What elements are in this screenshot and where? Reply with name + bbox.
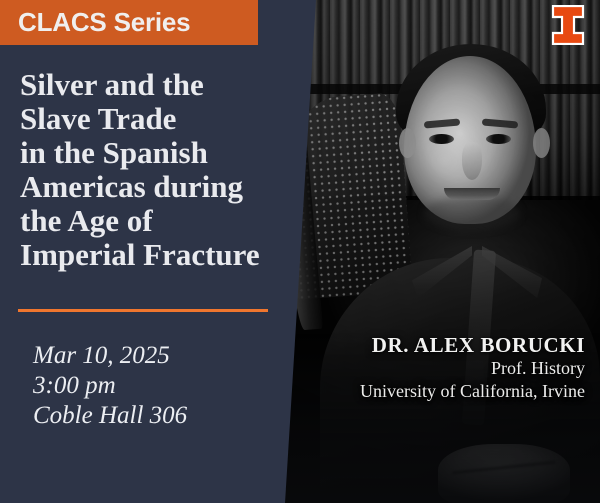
speaker-affiliation: University of California, Irvine	[360, 380, 585, 403]
event-details: Mar 10, 2025 3:00 pm Coble Hall 306	[33, 341, 187, 431]
event-time: 3:00 pm	[33, 371, 187, 401]
title-line: in the Spanish	[20, 136, 295, 170]
university-of-illinois-block-i-icon	[548, 5, 588, 45]
speaker-role: Prof. History	[360, 357, 585, 380]
subject-eye-left	[429, 134, 454, 144]
event-poster: CLACS Series Silver and the Slave Trade …	[0, 0, 600, 503]
info-panel: CLACS Series Silver and the Slave Trade …	[0, 0, 320, 503]
speaker-name: DR. ALEX BORUCKI	[360, 333, 585, 357]
title-line: Silver and the	[20, 68, 295, 102]
event-date: Mar 10, 2025	[33, 341, 187, 371]
event-location: Coble Hall 306	[33, 401, 187, 431]
series-banner-label: CLACS Series	[0, 7, 190, 38]
page-title: Silver and the Slave Trade in the Spanis…	[20, 68, 295, 272]
subject-eye-right	[486, 134, 511, 144]
series-banner: CLACS Series	[0, 0, 258, 45]
subject-chin-shadow	[424, 196, 520, 230]
orange-divider	[18, 309, 268, 312]
title-line: Slave Trade	[20, 102, 295, 136]
speaker-credit: DR. ALEX BORUCKI Prof. History Universit…	[360, 333, 585, 403]
subject-nose	[462, 142, 482, 180]
title-line: the Age of	[20, 204, 295, 238]
title-line: Imperial Fracture	[20, 238, 295, 272]
subject-ear-left	[399, 128, 416, 158]
title-line: Americas during	[20, 170, 295, 204]
subject-ear-right	[533, 128, 550, 158]
